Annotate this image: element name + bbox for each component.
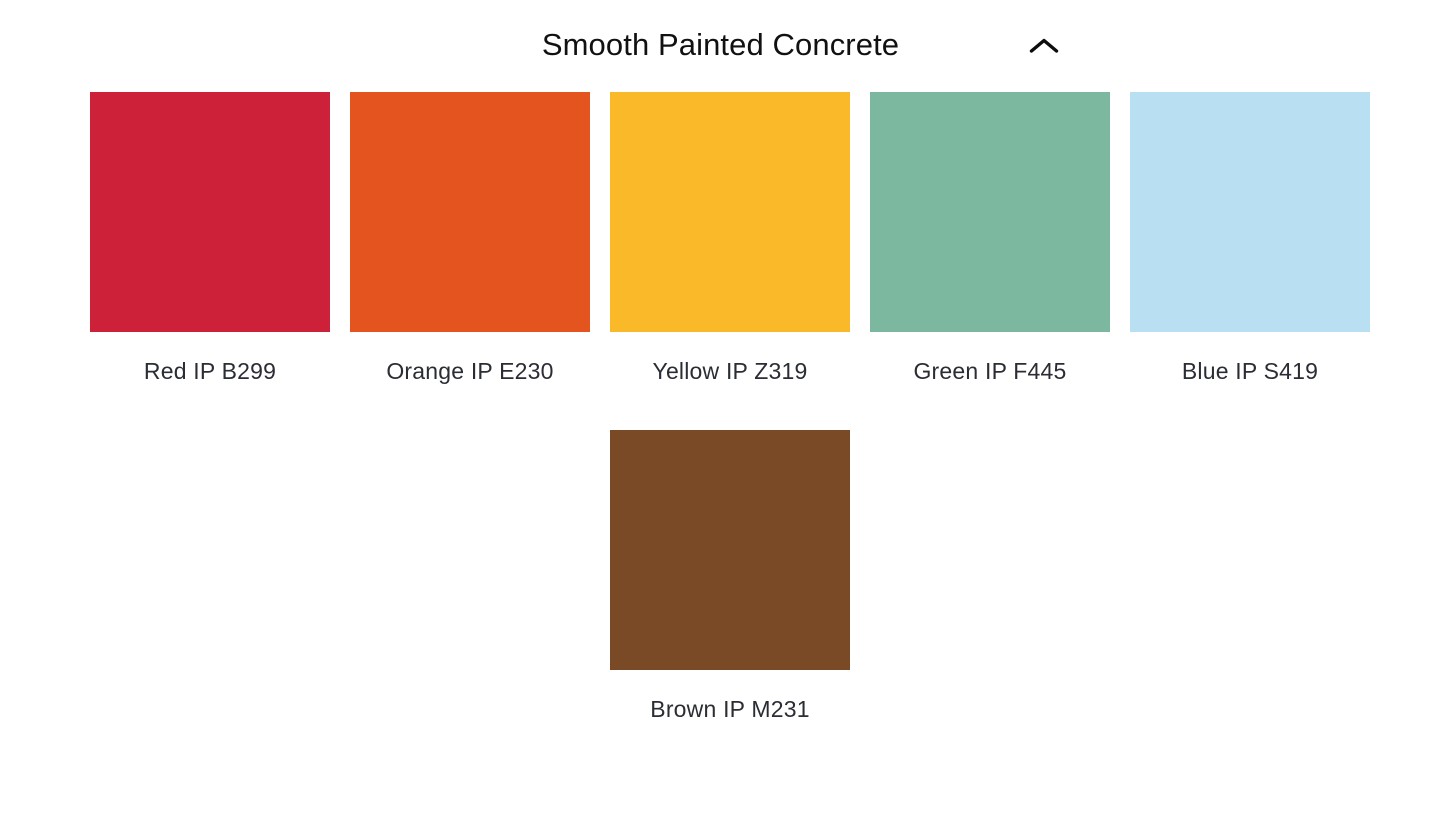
- swatch-label: Yellow IP Z319: [653, 358, 808, 386]
- swatch-label: Red IP B299: [144, 358, 276, 386]
- color-chip[interactable]: [870, 92, 1110, 332]
- swatch-label: Orange IP E230: [386, 358, 553, 386]
- chevron-up-icon: [1029, 37, 1059, 55]
- swatch-label: Brown IP M231: [650, 696, 809, 724]
- swatch-item-yellow[interactable]: Yellow IP Z319: [610, 92, 850, 386]
- panel-header[interactable]: Smooth Painted Concrete: [0, 0, 1441, 92]
- color-chip[interactable]: [1130, 92, 1370, 332]
- collapse-panel-button[interactable]: [1018, 24, 1070, 68]
- color-collection-panel: Smooth Painted Concrete Red IP B299 Oran…: [0, 0, 1441, 834]
- color-chip[interactable]: [90, 92, 330, 332]
- swatch-item-green[interactable]: Green IP F445: [870, 92, 1110, 386]
- swatch-item-red[interactable]: Red IP B299: [90, 92, 330, 386]
- color-chip[interactable]: [350, 92, 590, 332]
- swatch-grid-row-1: Red IP B299 Orange IP E230 Yellow IP Z31…: [90, 92, 1371, 386]
- swatch-grid-row-2: Brown IP M231: [90, 430, 1371, 724]
- swatch-item-brown[interactable]: Brown IP M231: [610, 430, 850, 724]
- color-chip[interactable]: [610, 430, 850, 670]
- page-title: Smooth Painted Concrete: [542, 29, 899, 64]
- swatch-label: Green IP F445: [913, 358, 1066, 386]
- swatch-label: Blue IP S419: [1182, 358, 1318, 386]
- swatch-item-orange[interactable]: Orange IP E230: [350, 92, 590, 386]
- swatch-item-blue[interactable]: Blue IP S419: [1130, 92, 1370, 386]
- color-chip[interactable]: [610, 92, 850, 332]
